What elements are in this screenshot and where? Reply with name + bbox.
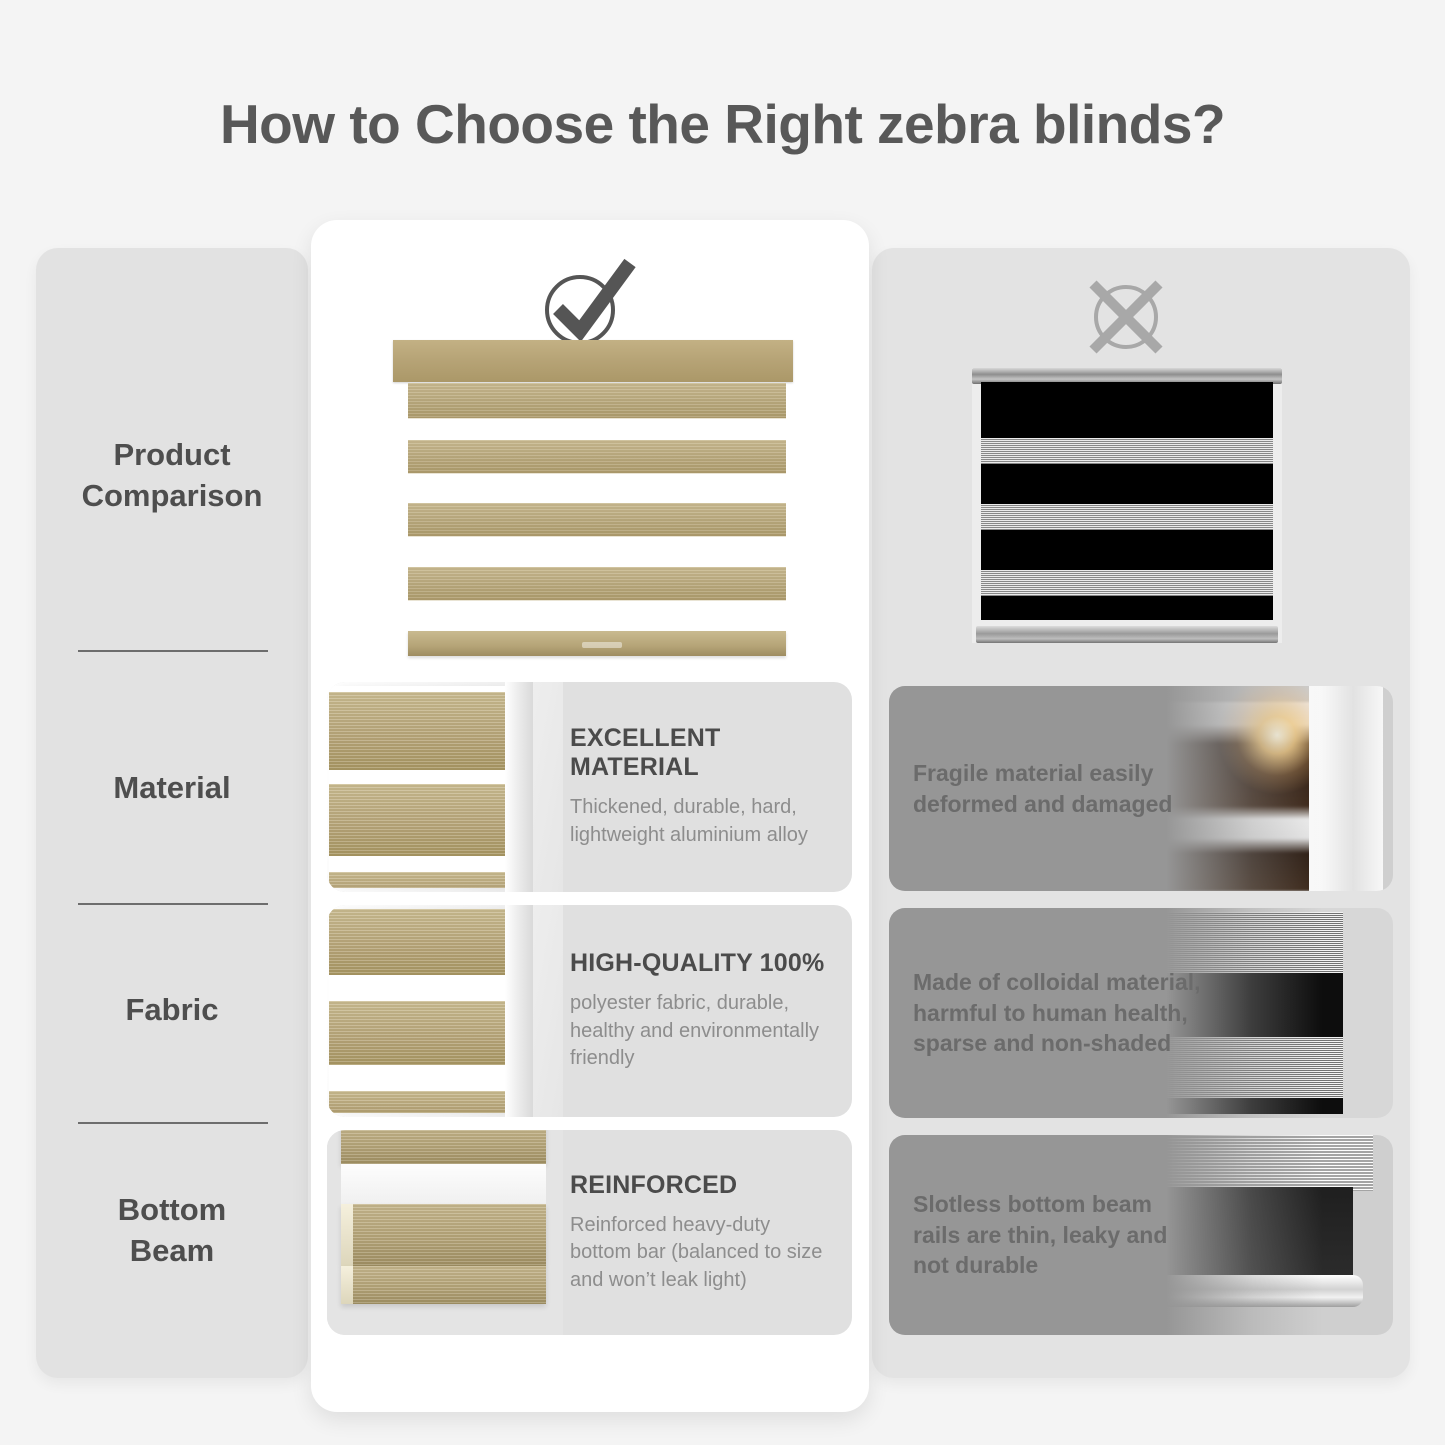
fabric-text-block: HIGH-QUALITY 100% polyester fabric, dura… xyxy=(570,905,836,1117)
row-label-line1: Fabric xyxy=(36,990,308,1031)
bottom-beam-text-block: REINFORCED Reinforced heavy-duty bottom … xyxy=(570,1130,836,1335)
check-circle-icon xyxy=(538,255,638,350)
row-divider xyxy=(78,1122,268,1124)
bad-feature-card-fabric: Made of colloidal material, harmful to h… xyxy=(889,908,1393,1118)
feature-heading: REINFORCED xyxy=(570,1171,836,1200)
beam-closeup xyxy=(327,1130,563,1335)
feature-body: Thickened, durable, hard, lightweight al… xyxy=(570,794,836,849)
good-product-hero-image xyxy=(386,340,800,670)
bad-product-hero-image xyxy=(972,368,1282,643)
blind-headrail xyxy=(393,340,793,382)
window-moulding xyxy=(505,682,533,892)
bad-feature-text: Fragile material easily deformed and dam… xyxy=(913,686,1203,891)
good-feature-card-fabric: HIGH-QUALITY 100% polyester fabric, dura… xyxy=(327,905,852,1117)
feature-body: polyester fabric, durable, healthy and e… xyxy=(570,990,836,1073)
good-feature-card-material: EXCELLENT MATERIAL Thickened, durable, h… xyxy=(327,682,852,892)
blind-band xyxy=(408,383,786,419)
row-divider xyxy=(78,903,268,905)
bad-feature-card-bottom-beam: Slotless bottom beam rails are thin, lea… xyxy=(889,1135,1393,1335)
window-moulding xyxy=(505,905,533,1117)
feature-heading: EXCELLENT MATERIAL xyxy=(570,724,836,782)
row-label-line2: Comparison xyxy=(36,476,308,517)
cross-circle-icon xyxy=(1085,276,1167,358)
blind-sheer-stripe xyxy=(981,570,1273,596)
window-frame xyxy=(327,905,563,1117)
row-label-bottom-beam: Bottom Beam xyxy=(36,1190,308,1272)
blind-fabric xyxy=(981,382,1273,620)
good-feature-card-bottom-beam: REINFORCED Reinforced heavy-duty bottom … xyxy=(327,1130,852,1335)
blind-band xyxy=(408,440,786,474)
feature-body: Reinforced heavy-duty bottom bar (balanc… xyxy=(570,1212,836,1295)
blind-band xyxy=(408,567,786,601)
material-photo xyxy=(327,682,563,892)
bad-feature-card-material: Fragile material easily deformed and dam… xyxy=(889,686,1393,891)
fabric-photo xyxy=(327,905,563,1117)
blind-band xyxy=(408,503,786,537)
row-label-line2: Beam xyxy=(36,1231,308,1272)
bottom-beam-photo xyxy=(327,1130,563,1335)
blind-bottom-bar xyxy=(976,626,1278,643)
row-label-material: Material xyxy=(36,768,308,809)
page-title: How to Choose the Right zebra blinds? xyxy=(0,92,1445,156)
bad-feature-text: Made of colloidal material, harmful to h… xyxy=(913,908,1203,1118)
blind-bottom-bar xyxy=(408,631,786,656)
row-label-line1: Bottom xyxy=(36,1190,308,1231)
bad-feature-text: Slotless bottom beam rails are thin, lea… xyxy=(913,1135,1203,1335)
row-label-line1: Material xyxy=(36,768,308,809)
blind-sheer-stripe xyxy=(981,438,1273,464)
blind-in-window xyxy=(329,686,517,888)
material-text-block: EXCELLENT MATERIAL Thickened, durable, h… xyxy=(570,682,836,892)
feature-heading: HIGH-QUALITY 100% xyxy=(570,949,836,978)
row-label-product-comparison: Product Comparison xyxy=(36,435,308,517)
row-label-fabric: Fabric xyxy=(36,990,308,1031)
blind-sheer-stripe xyxy=(981,504,1273,530)
row-label-line1: Product xyxy=(36,435,308,476)
window-frame xyxy=(327,682,563,892)
row-divider xyxy=(78,650,268,652)
blind-in-window xyxy=(329,909,517,1113)
